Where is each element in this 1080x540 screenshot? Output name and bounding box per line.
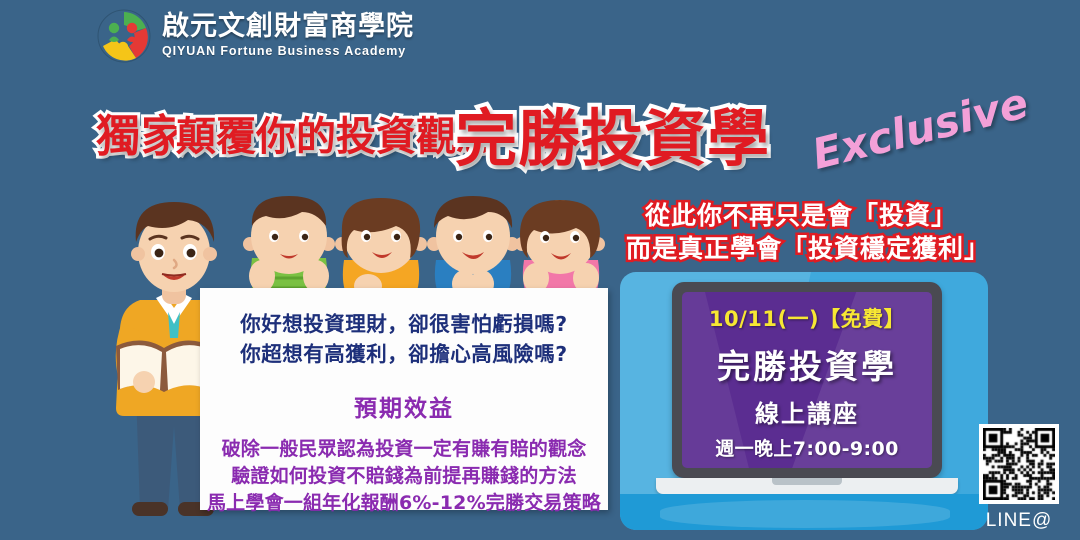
benefit-item: 馬上學會一組年化報酬6%-12%完勝交易策略	[200, 490, 608, 517]
tagline-line-1: 從此你不再只是會「投資」	[645, 196, 957, 232]
event-time: 週一晚上7:00-9:00	[682, 434, 932, 461]
question-line-1: 你好想投資理財，卻很害怕虧損嗎?	[200, 310, 608, 340]
brand-name-cn: 啟元文創財富商學院	[162, 13, 414, 41]
line-label: LINE@	[976, 510, 1062, 532]
laptop-base-notch	[772, 478, 842, 485]
laptop-screen: 10/11(一)【免費】 完勝投資學 線上講座 週一晚上7:00-9:00	[682, 292, 932, 468]
info-panel: 你好想投資理財，卻很害怕虧損嗎? 你超想有高獲利，卻擔心高風險嗎? 預期效益 破…	[200, 288, 608, 510]
circular-people-swirl-logo-icon	[96, 8, 152, 64]
four-children-illustration-icon	[236, 196, 608, 300]
poster-canvas: 啟元文創財富商學院 QIYUAN Fortune Business Academ…	[0, 0, 1080, 540]
page-title: 完勝投資學	[455, 88, 770, 178]
event-title: 完勝投資學	[682, 340, 932, 388]
headline-kicker: 獨家	[96, 100, 186, 164]
brand-name-en: QIYUAN Fortune Business Academy	[162, 44, 414, 59]
qr-code-icon[interactable]	[979, 424, 1059, 504]
event-format: 線上講座	[682, 394, 932, 429]
benefit-section-title: 預期效益	[200, 389, 608, 423]
desk-reflection	[660, 500, 950, 528]
laptop-promo-card: 10/11(一)【免費】 完勝投資學 線上講座 週一晚上7:00-9:00	[620, 272, 988, 530]
laptop-desk-surface	[620, 494, 988, 530]
laptop-base	[656, 478, 958, 494]
event-date: 10/11(一)【免費】	[682, 303, 932, 333]
line-contact-block[interactable]: LINE@	[976, 424, 1062, 532]
headline-subtitle: 顛覆你的投資觀念	[176, 104, 496, 162]
brand-text: 啟元文創財富商學院 QIYUAN Fortune Business Academ…	[162, 13, 414, 58]
tagline-line-2: 而是真正學會「投資穩定獲利」	[626, 229, 990, 265]
brand-logo[interactable]: 啟元文創財富商學院 QIYUAN Fortune Business Academ…	[96, 8, 414, 64]
benefit-item: 驗證如何投資不賠錢為前提再賺錢的方法	[200, 463, 608, 490]
benefit-list: 破除一般民眾認為投資一定有賺有賠的觀念 驗證如何投資不賠錢為前提再賺錢的方法 馬…	[200, 436, 608, 517]
question-line-2: 你超想有高獲利，卻擔心高風險嗎?	[200, 340, 608, 370]
benefit-item: 破除一般民眾認為投資一定有賺有賠的觀念	[200, 436, 608, 463]
laptop-lid: 10/11(一)【免費】 完勝投資學 線上講座 週一晚上7:00-9:00	[672, 282, 942, 478]
